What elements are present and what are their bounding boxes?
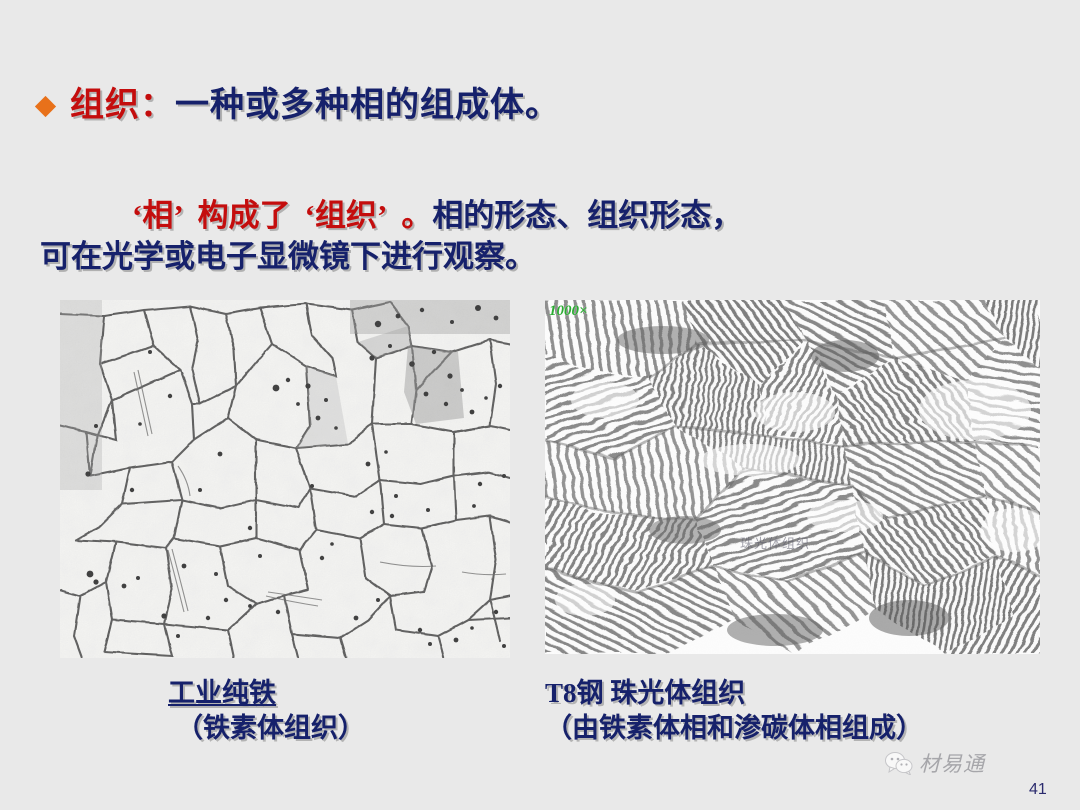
- left-caption-line-2: （铁素体组织）: [176, 711, 365, 746]
- watermark-text: 材易通: [919, 748, 985, 778]
- heading-bullet-row: 组织：一种或多种相的组成体。: [38, 86, 560, 126]
- industrial-pure-iron-micrograph: [60, 300, 510, 658]
- paragraph-highlight-2: 构成了: [198, 198, 291, 233]
- pearlite-lamellae-graphic: [545, 300, 1040, 654]
- paragraph-body-line-1: 相的形态、组织形态，: [432, 198, 742, 233]
- wechat-icon: [885, 751, 913, 775]
- right-caption-line-1: T8钢 珠光体组织: [545, 676, 923, 711]
- figure-inner-annotation: 珠光体组织: [740, 533, 810, 552]
- watermark: 材易通: [885, 748, 985, 778]
- magnification-label: 1000×: [549, 303, 588, 320]
- body-paragraph: ‘相’构成了‘组织’。相的形态、组织形态，可在光学或电子显微镜下进行观察。: [40, 196, 1060, 278]
- paragraph-highlight-3: ‘组织’: [305, 198, 388, 233]
- orange-diamond-bullet-icon: [35, 96, 56, 117]
- page-title: 组织：一种或多种相的组成体。: [70, 86, 560, 126]
- paragraph-period: 。: [401, 198, 432, 233]
- heading-term: 组织：: [70, 87, 175, 124]
- heading-definition: 一种或多种相的组成体。: [175, 87, 560, 124]
- right-caption-line-2: （由铁素体相和渗碳体相组成）: [545, 711, 923, 746]
- paragraph-body-line-2: 可在光学或电子显微镜下进行观察。: [40, 239, 536, 274]
- left-caption-line-1: 工业纯铁: [168, 676, 365, 711]
- left-figure-caption: 工业纯铁 （铁素体组织）: [120, 676, 365, 746]
- paragraph-highlight-1: ‘相’: [132, 198, 184, 233]
- t8-steel-pearlite-micrograph: 1000× 珠光体组织: [545, 300, 1040, 654]
- ferrite-grain-structure-graphic: [60, 300, 510, 658]
- slide-canvas: 组织：一种或多种相的组成体。 ‘相’构成了‘组织’。相的形态、组织形态，可在光学…: [0, 0, 1080, 810]
- page-number: 41: [1029, 781, 1047, 799]
- right-figure-caption: T8钢 珠光体组织 （由铁素体相和渗碳体相组成）: [545, 676, 923, 746]
